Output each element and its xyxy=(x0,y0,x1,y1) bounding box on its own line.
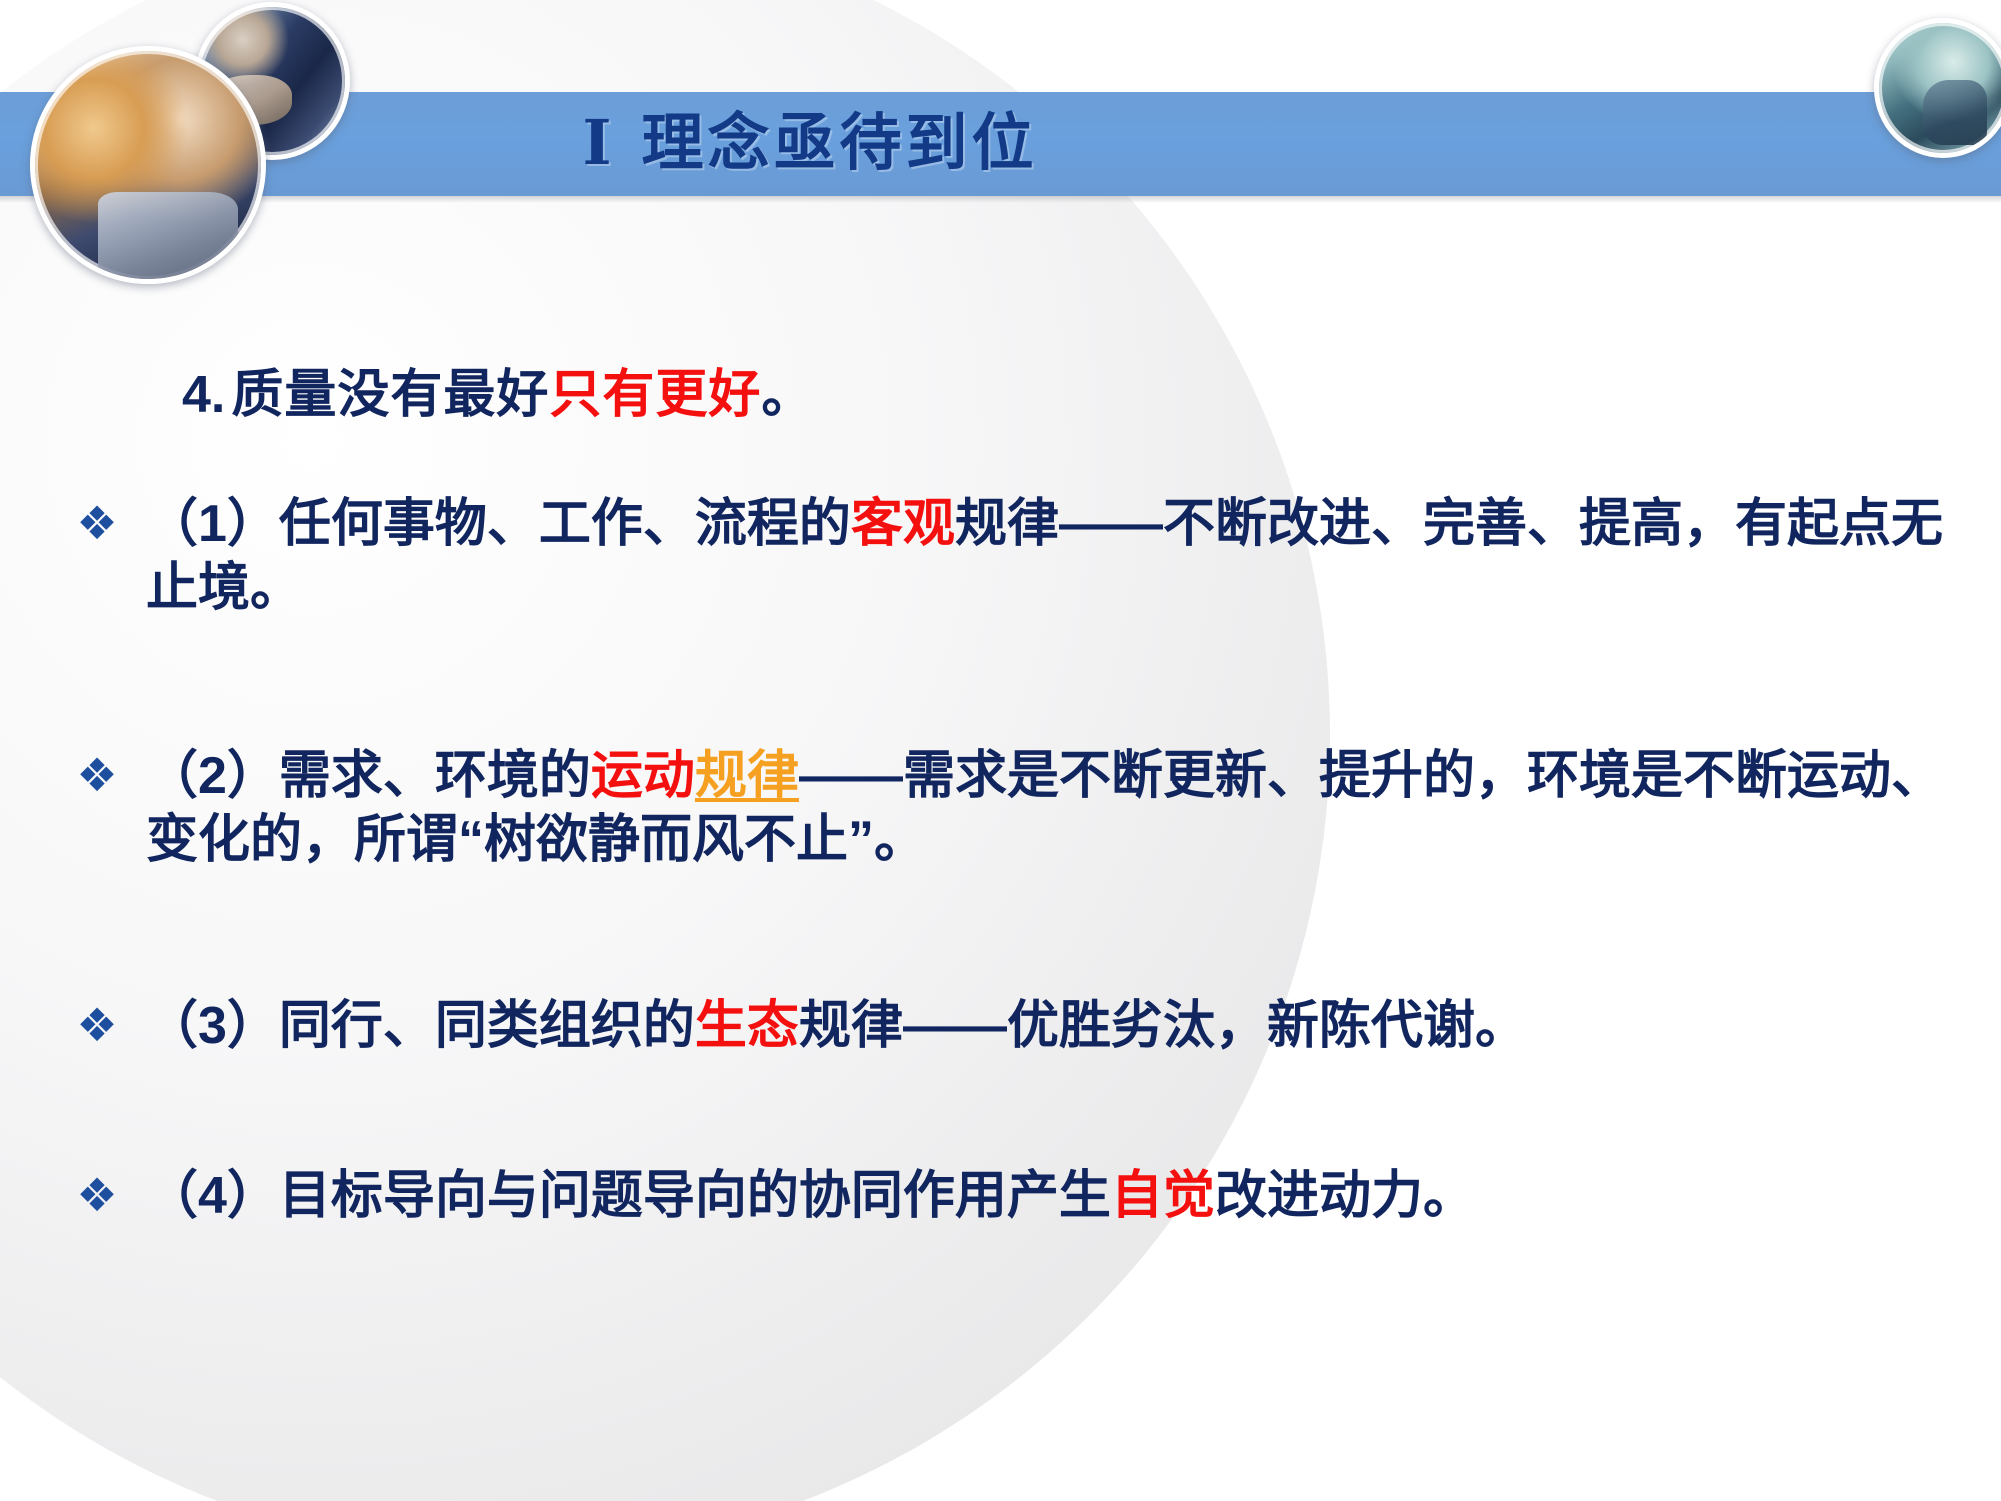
text-run-highlight: 生态 xyxy=(695,997,799,1055)
text-run-highlight: 自觉 xyxy=(1111,1167,1215,1225)
list-item-text: （4）目标导向与问题导向的协同作用产生自觉改进动力。 xyxy=(146,1164,1475,1228)
title-numeral: Ⅰ xyxy=(582,110,641,178)
text-run-highlight: 运动 xyxy=(591,747,695,805)
slide-canvas: Ⅰ理念亟待到位 4.质量没有最好只有更好。 ❖ （1）任何事物、工作、流程的客观… xyxy=(0,0,2001,1501)
text-run-highlight: 规律 xyxy=(695,747,799,805)
heading-text-plain: 质量没有最好 xyxy=(231,366,549,424)
text-run-plain: （4）目标导向与问题导向的协同作用产生 xyxy=(146,1167,1111,1225)
text-run-plain: （1）任何事物、工作、流程的 xyxy=(146,495,851,553)
text-run-plain: （2）需求、环境的 xyxy=(146,747,591,805)
list-item: ❖ （2）需求、环境的运动规律——需求是不断更新、提升的，环境是不断运动、变化的… xyxy=(74,744,1974,872)
list-item-text: （2）需求、环境的运动规律——需求是不断更新、提升的，环境是不断运动、变化的，所… xyxy=(146,744,1974,872)
diamond-bullet-icon: ❖ xyxy=(74,744,120,806)
list-item-text: （1）任何事物、工作、流程的客观规律——不断改进、完善、提高，有起点无止境。 xyxy=(146,492,1966,620)
diamond-bullet-icon: ❖ xyxy=(74,994,120,1056)
list-item: ❖ （3）同行、同类组织的生态规律——优胜劣汰，新陈代谢。 xyxy=(74,994,1974,1058)
diamond-bullet-icon: ❖ xyxy=(74,492,120,554)
text-run-plain: （3）同行、同类组织的 xyxy=(146,997,695,1055)
text-run-plain: 规律——优胜劣汰，新陈代谢。 xyxy=(799,997,1527,1055)
text-run-plain: 改进动力。 xyxy=(1215,1167,1475,1225)
list-item-text: （3）同行、同类组织的生态规律——优胜劣汰，新陈代谢。 xyxy=(146,994,1527,1058)
list-item: ❖ （4）目标导向与问题导向的协同作用产生自觉改进动力。 xyxy=(74,1164,1974,1228)
heading-number: 4. xyxy=(182,366,231,424)
text-run-highlight: 客观 xyxy=(851,495,955,553)
heading-text-highlight: 只有更好 xyxy=(549,366,761,424)
photo-circle-man-presenting xyxy=(1874,18,2001,158)
list-item: ❖ （1）任何事物、工作、流程的客观规律——不断改进、完善、提高，有起点无止境。 xyxy=(74,492,1974,620)
slide-body: 4.质量没有最好只有更好。 ❖ （1）任何事物、工作、流程的客观规律——不断改进… xyxy=(0,196,2001,1501)
heading-item-4: 4.质量没有最好只有更好。 xyxy=(182,352,814,427)
diamond-bullet-icon: ❖ xyxy=(74,1164,120,1226)
heading-text-tail: 。 xyxy=(761,366,814,424)
title-text: 理念亟待到位 xyxy=(642,110,1038,178)
